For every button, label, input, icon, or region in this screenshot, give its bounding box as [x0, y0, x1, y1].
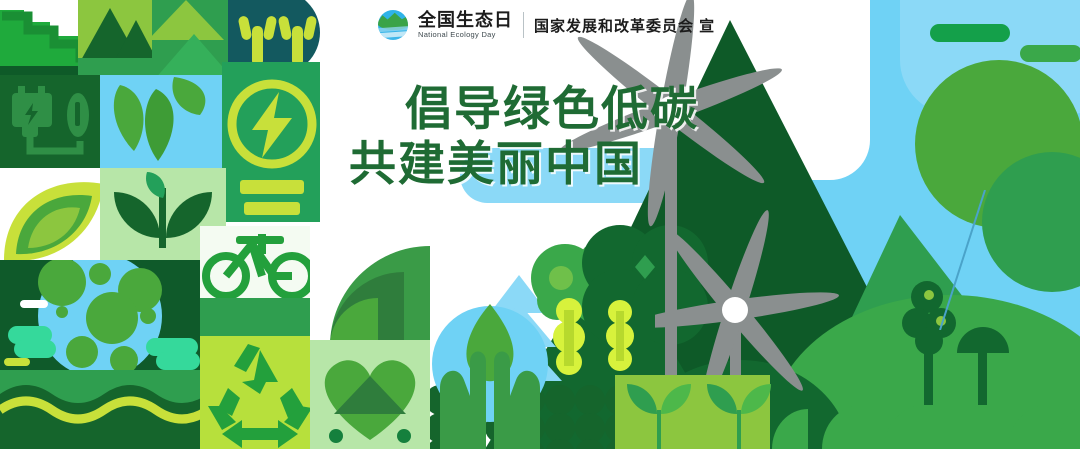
concentric-arcs-icon	[310, 226, 440, 346]
tile-mountains	[78, 0, 156, 75]
heart-mountain-icon	[310, 340, 430, 449]
logo-title-en: National Ecology Day	[418, 31, 513, 39]
concentric-arcs-icon	[770, 378, 1080, 449]
slogan-line-2: 共建美丽中国	[349, 137, 699, 192]
slogan-line-1: 倡导绿色低碳	[405, 82, 699, 137]
hands-holding-leaf-icon	[430, 292, 550, 449]
tile-green-band	[200, 298, 320, 340]
leaves-icon	[100, 75, 226, 171]
tile-recycle	[200, 336, 320, 449]
tile-earth-globe	[0, 260, 204, 376]
bicycle-icon	[200, 226, 320, 304]
leaf-icon	[0, 168, 106, 264]
triangle-peaks-icon	[152, 0, 232, 75]
tile-water-waves	[0, 370, 204, 449]
hands-holding-leaf	[430, 292, 550, 449]
tile-arc-rings	[310, 226, 440, 346]
earth-globe-icon	[0, 260, 204, 376]
tile-ev-charger	[0, 75, 104, 171]
recycle-symbol-icon	[200, 336, 320, 449]
poster-canvas: 全国生态日 National Ecology Day 国家发展和改革委员会 宣 …	[0, 0, 1080, 449]
ev-charging-station-icon	[0, 75, 104, 171]
tile-energy-battery	[222, 62, 320, 222]
logo-title-cn: 全国生态日	[418, 11, 513, 29]
tile-bicycle	[200, 226, 320, 304]
wave-lines-icon	[0, 370, 204, 449]
mountain-range-icon	[78, 0, 156, 75]
logo-text: 全国生态日 National Ecology Day	[418, 11, 513, 39]
tile-triangle-peaks	[152, 0, 232, 75]
turbine-guy-wire	[885, 190, 1005, 330]
divider	[523, 12, 524, 38]
tile-leaves-blue	[100, 75, 226, 171]
header-logo-bar: 全国生态日 National Ecology Day 国家发展和改革委员会 宣	[378, 10, 715, 40]
tile-big-leaf	[0, 168, 106, 264]
tile-heart-mountain	[310, 340, 430, 449]
national-ecology-day-logo-icon	[378, 10, 408, 40]
seedling-icon	[615, 372, 775, 449]
lightning-bolt-battery-icon	[222, 62, 320, 222]
poster-slogan: 倡导绿色低碳 共建美丽中国	[405, 82, 699, 193]
issuer-label: 国家发展和改革委员会 宣	[534, 15, 715, 36]
